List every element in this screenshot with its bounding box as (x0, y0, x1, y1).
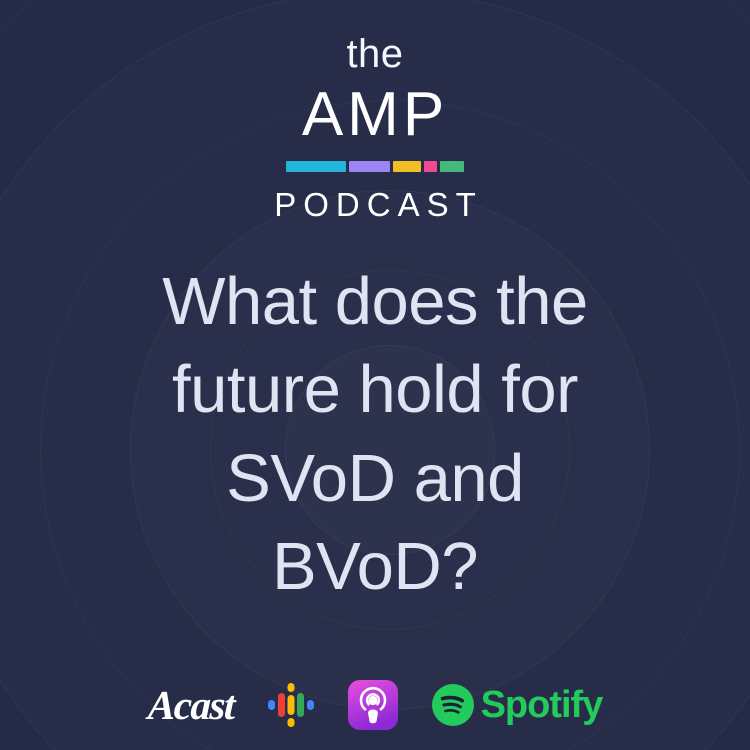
episode-title-line-4: BVoD? (48, 523, 702, 611)
episode-title-line-3: SVoD and (48, 435, 702, 523)
episode-title: What does the future hold for SVoD and B… (48, 258, 702, 612)
spotify-logo[interactable]: Spotify (432, 684, 603, 726)
acast-wordmark-icon[interactable]: Acast (147, 685, 234, 726)
spotify-icon (432, 684, 474, 726)
episode-title-line-2: future hold for (48, 346, 702, 434)
colorbar-segment-purple (349, 161, 391, 172)
brand-amp-text: AMP (0, 78, 750, 151)
brand-the-text: the (0, 34, 750, 74)
colorbar-segment-pink (424, 161, 437, 172)
brand-colorbar (286, 161, 464, 172)
platform-logo-row: Acast (0, 674, 750, 736)
colorbar-segment-yellow (393, 161, 421, 172)
google-podcasts-icon[interactable] (268, 683, 314, 727)
spotify-wordmark: Spotify (481, 686, 603, 724)
brand-podcast-text: PODCAST (0, 187, 750, 223)
colorbar-segment-green (440, 161, 464, 172)
colorbar-segment-cyan (286, 161, 346, 172)
brand-lockup: the AMP PODCAST (0, 34, 750, 223)
episode-title-line-1: What does the (48, 258, 702, 346)
podcast-cover-art: the AMP PODCAST What does the future hol… (0, 0, 750, 750)
apple-podcasts-icon[interactable] (348, 680, 398, 730)
